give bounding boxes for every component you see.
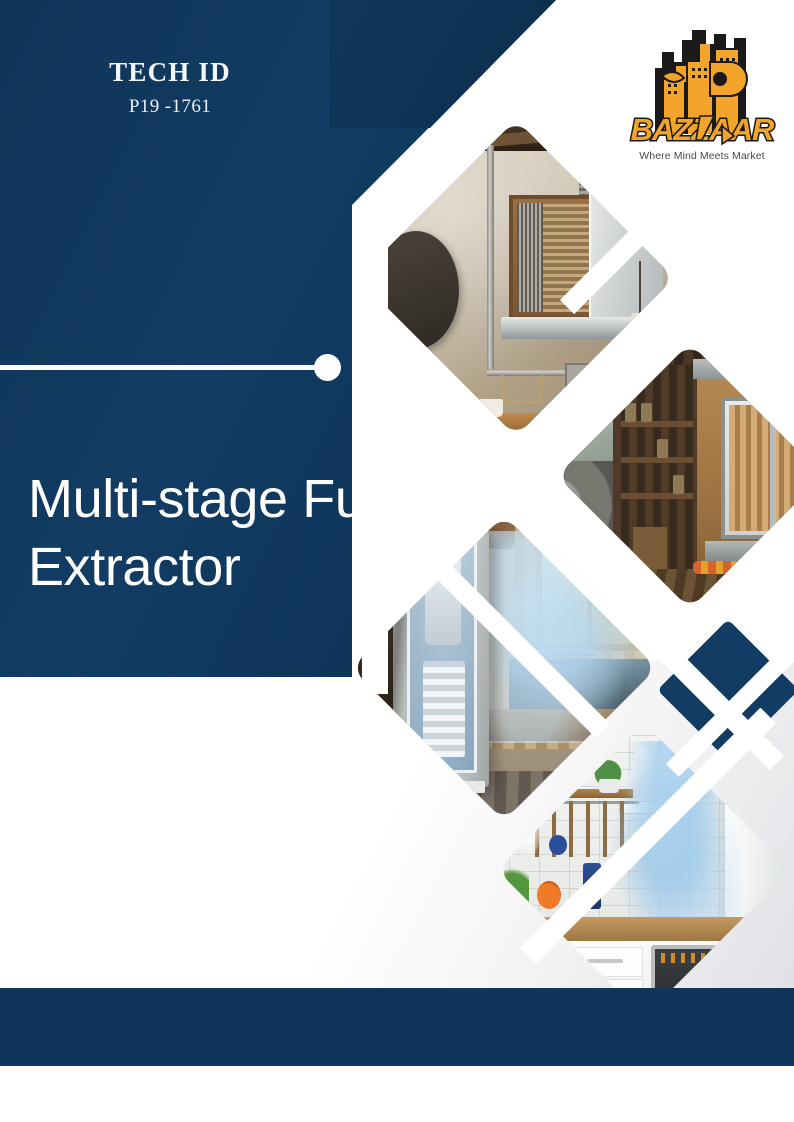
accent-rule xyxy=(0,365,322,370)
tech-id-value: P19 -1761 xyxy=(0,96,340,118)
accent-rule-dot xyxy=(314,354,341,381)
gallery-tile-wood-fired-store-room xyxy=(557,343,794,609)
scene-wood-store xyxy=(557,343,794,609)
brand-logo[interactable]: BAZZAAR Where Mind Meets Market xyxy=(622,22,782,168)
tech-id-block: TECH ID P19 -1761 xyxy=(0,56,340,118)
bottom-accent-bar xyxy=(0,988,794,1066)
page-title: Multi-stage Fume Extractor xyxy=(28,465,498,601)
ip-bazzaar-logo-icon: BAZZAAR Where Mind Meets Market xyxy=(622,22,782,168)
svg-text:Where Mind Meets Market: Where Mind Meets Market xyxy=(639,150,764,162)
cover-page: TECH ID P19 -1761 Multi-stage Fume Extra… xyxy=(0,0,794,1122)
tile-gap xyxy=(362,214,388,694)
tech-id-label: TECH ID xyxy=(0,56,340,88)
